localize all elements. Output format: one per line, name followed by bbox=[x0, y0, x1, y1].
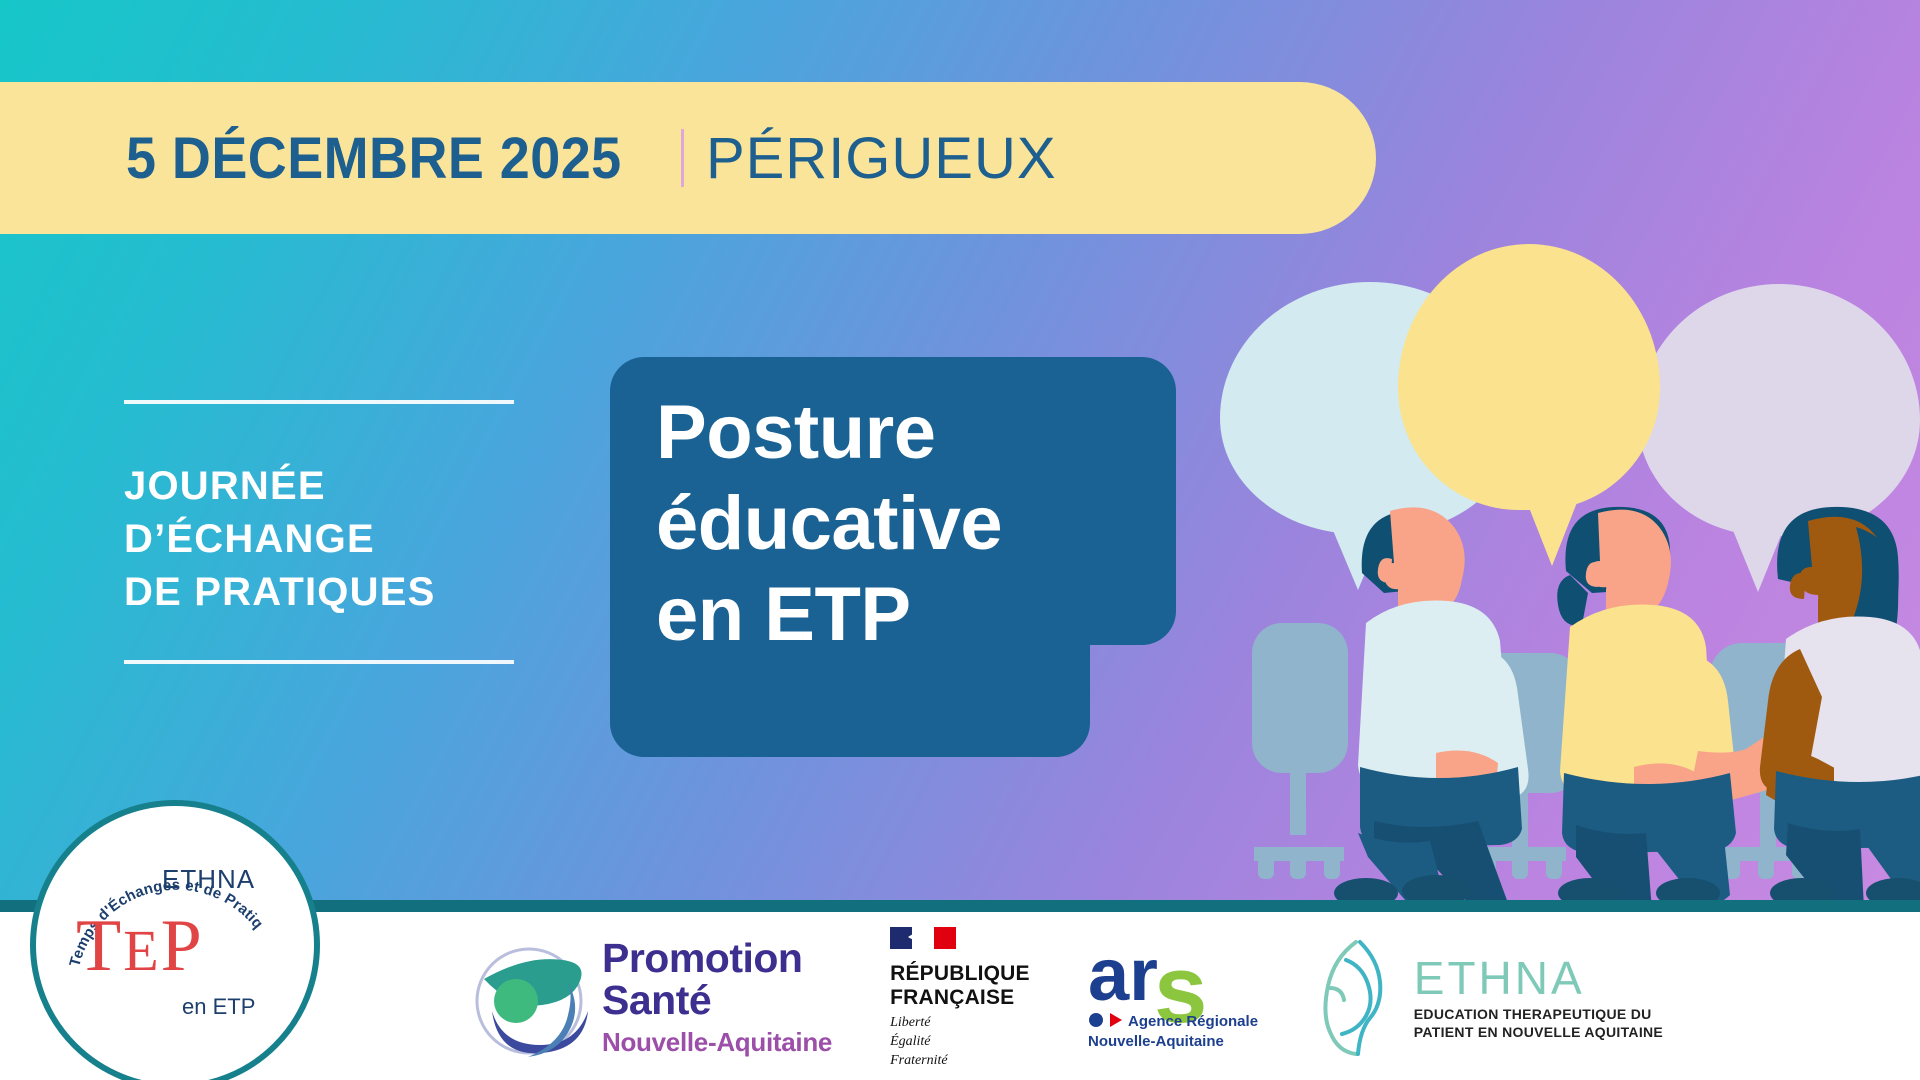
logo-ethna: ETHNA EDUCATION THERAPEUTIQUE DU PATIENT… bbox=[1316, 938, 1663, 1058]
title-line-3: en ETP bbox=[656, 569, 1176, 660]
tep-ethna-badge: Temps d'Échanges et de Pratiques ETHNA T… bbox=[30, 800, 320, 1080]
event-type-block: JOURNÉE D’ÉCHANGE DE PRATIQUES bbox=[124, 400, 524, 664]
banner-separator bbox=[681, 129, 684, 187]
event-type-line-3: DE PRATIQUES bbox=[124, 566, 524, 619]
title-line-2: éducative bbox=[656, 478, 1176, 569]
page-title: Posture éducative en ETP bbox=[656, 387, 1176, 661]
event-type-label: JOURNÉE D’ÉCHANGE DE PRATIQUES bbox=[124, 460, 524, 618]
poster-root: 5 DÉCEMBRE 2025 PÉRIGUEUX JOURNÉE D’ÉCHA… bbox=[0, 0, 1920, 1080]
badge-tep-letters: TEP bbox=[76, 904, 276, 989]
french-flag-icon bbox=[890, 925, 964, 953]
motto-egalite: Égalité bbox=[890, 1033, 1030, 1052]
promotion-sante-text: Promotion Santé Nouvelle-Aquitaine bbox=[602, 938, 832, 1058]
republique-francaise-text: RÉPUBLIQUE FRANÇAISE Liberté Égalité Fra… bbox=[890, 925, 1030, 1071]
divider-rule-bottom bbox=[124, 660, 514, 664]
ethna-text: ETHNA EDUCATION THERAPEUTIQUE DU PATIENT… bbox=[1414, 955, 1663, 1041]
title-line-1: Posture bbox=[656, 387, 1176, 478]
ars-wordmark-icon: ar s Agence Régionale de Santé Nouvelle-… bbox=[1088, 938, 1258, 1058]
motto-liberte: Liberté bbox=[890, 1014, 1030, 1033]
main-title-box: Posture éducative en ETP bbox=[610, 357, 1176, 757]
republique-line-1: RÉPUBLIQUE bbox=[890, 962, 1030, 986]
republique-line-2: FRANÇAISE bbox=[890, 986, 1030, 1010]
ethna-face-icon bbox=[1316, 938, 1402, 1058]
badge-letter-e: E bbox=[123, 918, 160, 983]
logo-republique-francaise: RÉPUBLIQUE FRANÇAISE Liberté Égalité Fra… bbox=[890, 925, 1030, 1071]
ars-sub-2: Nouvelle-Aquitaine bbox=[1088, 1033, 1224, 1050]
badge-subtitle: en ETP bbox=[182, 994, 255, 1020]
ars-sub-1: Agence Régionale de Santé bbox=[1128, 1013, 1258, 1030]
ethna-sub-line-1: EDUCATION THERAPEUTIQUE DU bbox=[1414, 1005, 1663, 1023]
promotion-sante-line-2: Santé bbox=[602, 979, 832, 1022]
event-date: 5 DÉCEMBRE 2025 bbox=[126, 125, 622, 192]
ethna-subtitle: EDUCATION THERAPEUTIQUE DU PATIENT EN NO… bbox=[1414, 1005, 1663, 1041]
people-illustration bbox=[1240, 455, 1920, 910]
divider-rule-top bbox=[124, 400, 514, 404]
republique-motto: Liberté Égalité Fraternité bbox=[890, 1014, 1030, 1071]
ethna-sub-line-2: PATIENT EN NOUVELLE AQUITAINE bbox=[1414, 1023, 1663, 1041]
svg-text:ar: ar bbox=[1088, 938, 1158, 1016]
logo-promotion-sante: Promotion Santé Nouvelle-Aquitaine bbox=[470, 938, 832, 1058]
partner-logos: Promotion Santé Nouvelle-Aquitaine RÉPUB… bbox=[470, 918, 1890, 1078]
promotion-sante-swirl-icon bbox=[470, 939, 588, 1057]
badge-letter-p: P bbox=[161, 905, 204, 987]
event-type-line-2: D’ÉCHANGE bbox=[124, 513, 524, 566]
promotion-sante-line-3: Nouvelle-Aquitaine bbox=[602, 1027, 832, 1058]
badge-letter-t: T bbox=[76, 905, 123, 987]
ethna-title: ETHNA bbox=[1414, 955, 1663, 1001]
event-city: PÉRIGUEUX bbox=[706, 125, 1057, 192]
event-type-line-1: JOURNÉE bbox=[124, 460, 524, 513]
promotion-sante-line-1: Promotion bbox=[602, 938, 832, 979]
logo-ars: ar s Agence Régionale de Santé Nouvelle-… bbox=[1088, 938, 1258, 1058]
motto-fraternite: Fraternité bbox=[890, 1052, 1030, 1071]
badge-ethna-label: ETHNA bbox=[162, 864, 255, 895]
hero-gradient-background: 5 DÉCEMBRE 2025 PÉRIGUEUX JOURNÉE D’ÉCHA… bbox=[0, 0, 1920, 910]
date-location-banner: 5 DÉCEMBRE 2025 PÉRIGUEUX bbox=[0, 82, 1376, 234]
